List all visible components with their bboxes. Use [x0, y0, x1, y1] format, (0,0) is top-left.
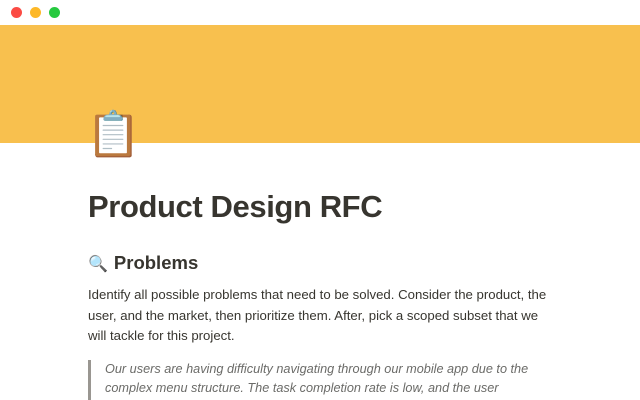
section-blockquote[interactable]: Our users are having difficulty navigati…: [88, 360, 552, 400]
section-paragraph[interactable]: Identify all possible problems that need…: [88, 275, 552, 345]
magnifying-glass-icon: 🔍: [88, 255, 108, 276]
section-heading-problems[interactable]: 🔍 Problems: [88, 225, 552, 276]
window-controls: [11, 7, 60, 18]
page-title[interactable]: Product Design RFC: [88, 143, 552, 225]
minimize-window-icon[interactable]: [30, 7, 41, 18]
window-titlebar: [0, 0, 640, 25]
section-heading-label: Problems: [114, 251, 198, 275]
document-body: Product Design RFC 🔍 Problems Identify a…: [0, 143, 640, 400]
page-icon[interactable]: 📋: [86, 110, 136, 160]
app-window: 📋 Product Design RFC 🔍 Problems Identify…: [0, 0, 640, 400]
maximize-window-icon[interactable]: [49, 7, 60, 18]
close-window-icon[interactable]: [11, 7, 22, 18]
